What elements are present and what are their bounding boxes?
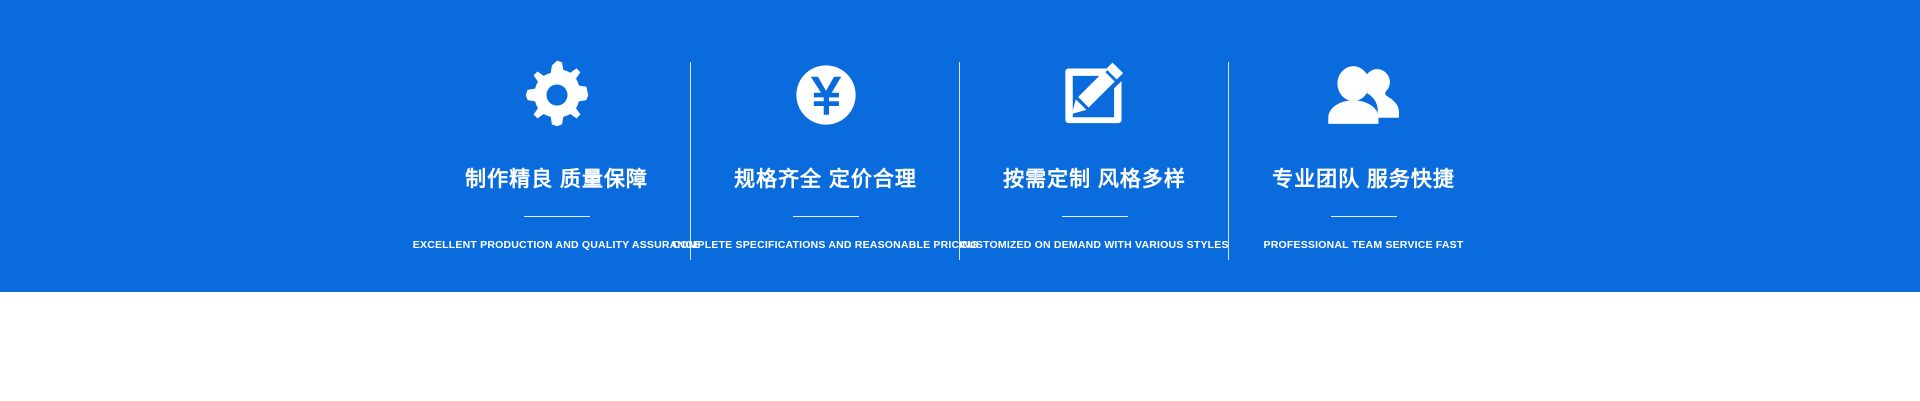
feature-subtitle: PROFESSIONAL TEAM SERVICE FAST xyxy=(1264,239,1464,252)
feature-title: 专业团队 服务快捷 xyxy=(1272,168,1455,191)
feature-divider-rule xyxy=(1331,216,1397,217)
feature-item-quality[interactable]: 制作精良 质量保障 EXCELLENT PRODUCTION AND QUALI… xyxy=(422,0,691,292)
feature-title: 规格齐全 定价合理 xyxy=(734,168,917,191)
feature-banner: 制作精良 质量保障 EXCELLENT PRODUCTION AND QUALI… xyxy=(0,0,1920,292)
feature-list: 制作精良 质量保障 EXCELLENT PRODUCTION AND QUALI… xyxy=(422,0,1498,292)
feature-subtitle: EXCELLENT PRODUCTION AND QUALITY ASSURAN… xyxy=(413,239,700,252)
gear-icon xyxy=(514,52,600,138)
feature-subtitle: CUSTOMIZED ON DEMAND WITH VARIOUS STYLES xyxy=(960,239,1228,252)
feature-subtitle: COMPLETE SPECIFICATIONS AND REASONABLE P… xyxy=(672,239,978,252)
edit-pencil-square-icon xyxy=(1052,52,1138,138)
bottom-strip xyxy=(0,292,1920,401)
feature-title: 制作精良 质量保障 xyxy=(465,168,648,191)
feature-title: 按需定制 风格多样 xyxy=(1003,168,1186,191)
feature-item-pricing[interactable]: 规格齐全 定价合理 COMPLETE SPECIFICATIONS AND RE… xyxy=(691,0,960,292)
yen-coin-icon xyxy=(783,52,869,138)
users-group-icon xyxy=(1321,52,1407,138)
feature-item-team[interactable]: 专业团队 服务快捷 PROFESSIONAL TEAM SERVICE FAST xyxy=(1229,0,1498,292)
feature-item-customization[interactable]: 按需定制 风格多样 CUSTOMIZED ON DEMAND WITH VARI… xyxy=(960,0,1229,292)
feature-divider-rule xyxy=(524,216,590,217)
feature-divider-rule xyxy=(793,216,859,217)
feature-divider-rule xyxy=(1062,216,1128,217)
